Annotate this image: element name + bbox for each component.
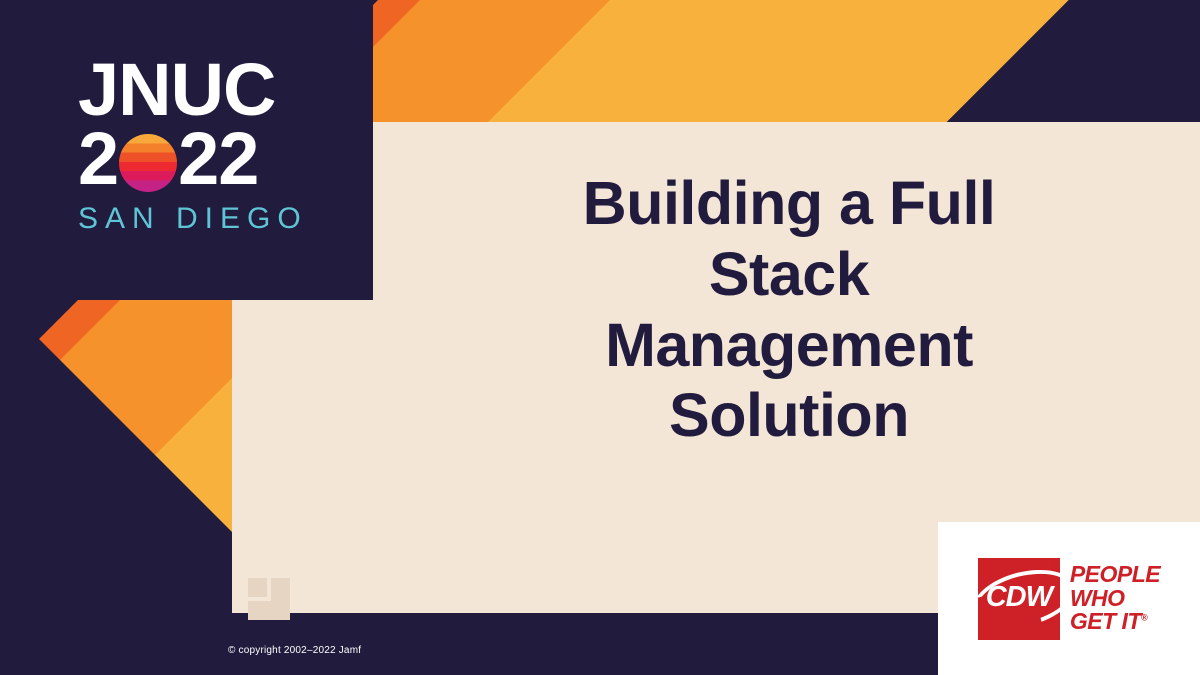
cdw-tagline-registered-icon: ® — [1141, 613, 1147, 623]
sun-circle-icon — [119, 134, 177, 192]
title-line-2: Stack — [430, 239, 1148, 310]
jamf-mark-part-c — [248, 601, 290, 620]
title-line-4: Solution — [430, 380, 1148, 451]
jnuc-wordmark: JNUC — [78, 58, 318, 122]
copyright-text: © copyright 2002–2022 Jamf — [228, 645, 361, 656]
content-panel-step — [232, 300, 432, 613]
cdw-tagline-line-3: GET IT® — [1070, 610, 1160, 634]
jnuc-year: 2 22 — [78, 126, 318, 193]
cdw-mark-icon: CDW ® — [978, 558, 1060, 640]
jnuc-location: SAN DIEGO — [78, 202, 318, 236]
navy-wedge-bottom — [90, 613, 152, 675]
cdw-logo: CDW ® PEOPLE WHO GET IT® — [938, 522, 1200, 675]
cdw-mark-text: CDW — [986, 581, 1052, 614]
title-line-1: Building a Full — [430, 168, 1148, 239]
jnuc-logo: JNUC 2 22 SAN DIEGO — [78, 58, 318, 236]
title-line-3: Management — [430, 310, 1148, 381]
cdw-tagline-line-2: WHO — [1070, 587, 1160, 611]
cdw-tagline: PEOPLE WHO GET IT® — [1070, 563, 1160, 634]
jamf-logo-mark-icon — [248, 578, 290, 620]
year-prefix: 2 — [78, 126, 118, 193]
presentation-slide: JNUC 2 22 SAN DIEGO Building a Full Stac… — [0, 0, 1200, 675]
jamf-mark-part-a — [248, 578, 267, 597]
cdw-tagline-line-3-text: GET IT — [1070, 608, 1141, 634]
year-suffix: 22 — [178, 126, 258, 193]
navy-wedge-top-right — [1128, 0, 1200, 72]
cdw-registered-icon: ® — [1052, 560, 1058, 569]
slide-title: Building a Full Stack Management Solutio… — [430, 168, 1148, 451]
cdw-tagline-line-1: PEOPLE — [1070, 563, 1160, 587]
